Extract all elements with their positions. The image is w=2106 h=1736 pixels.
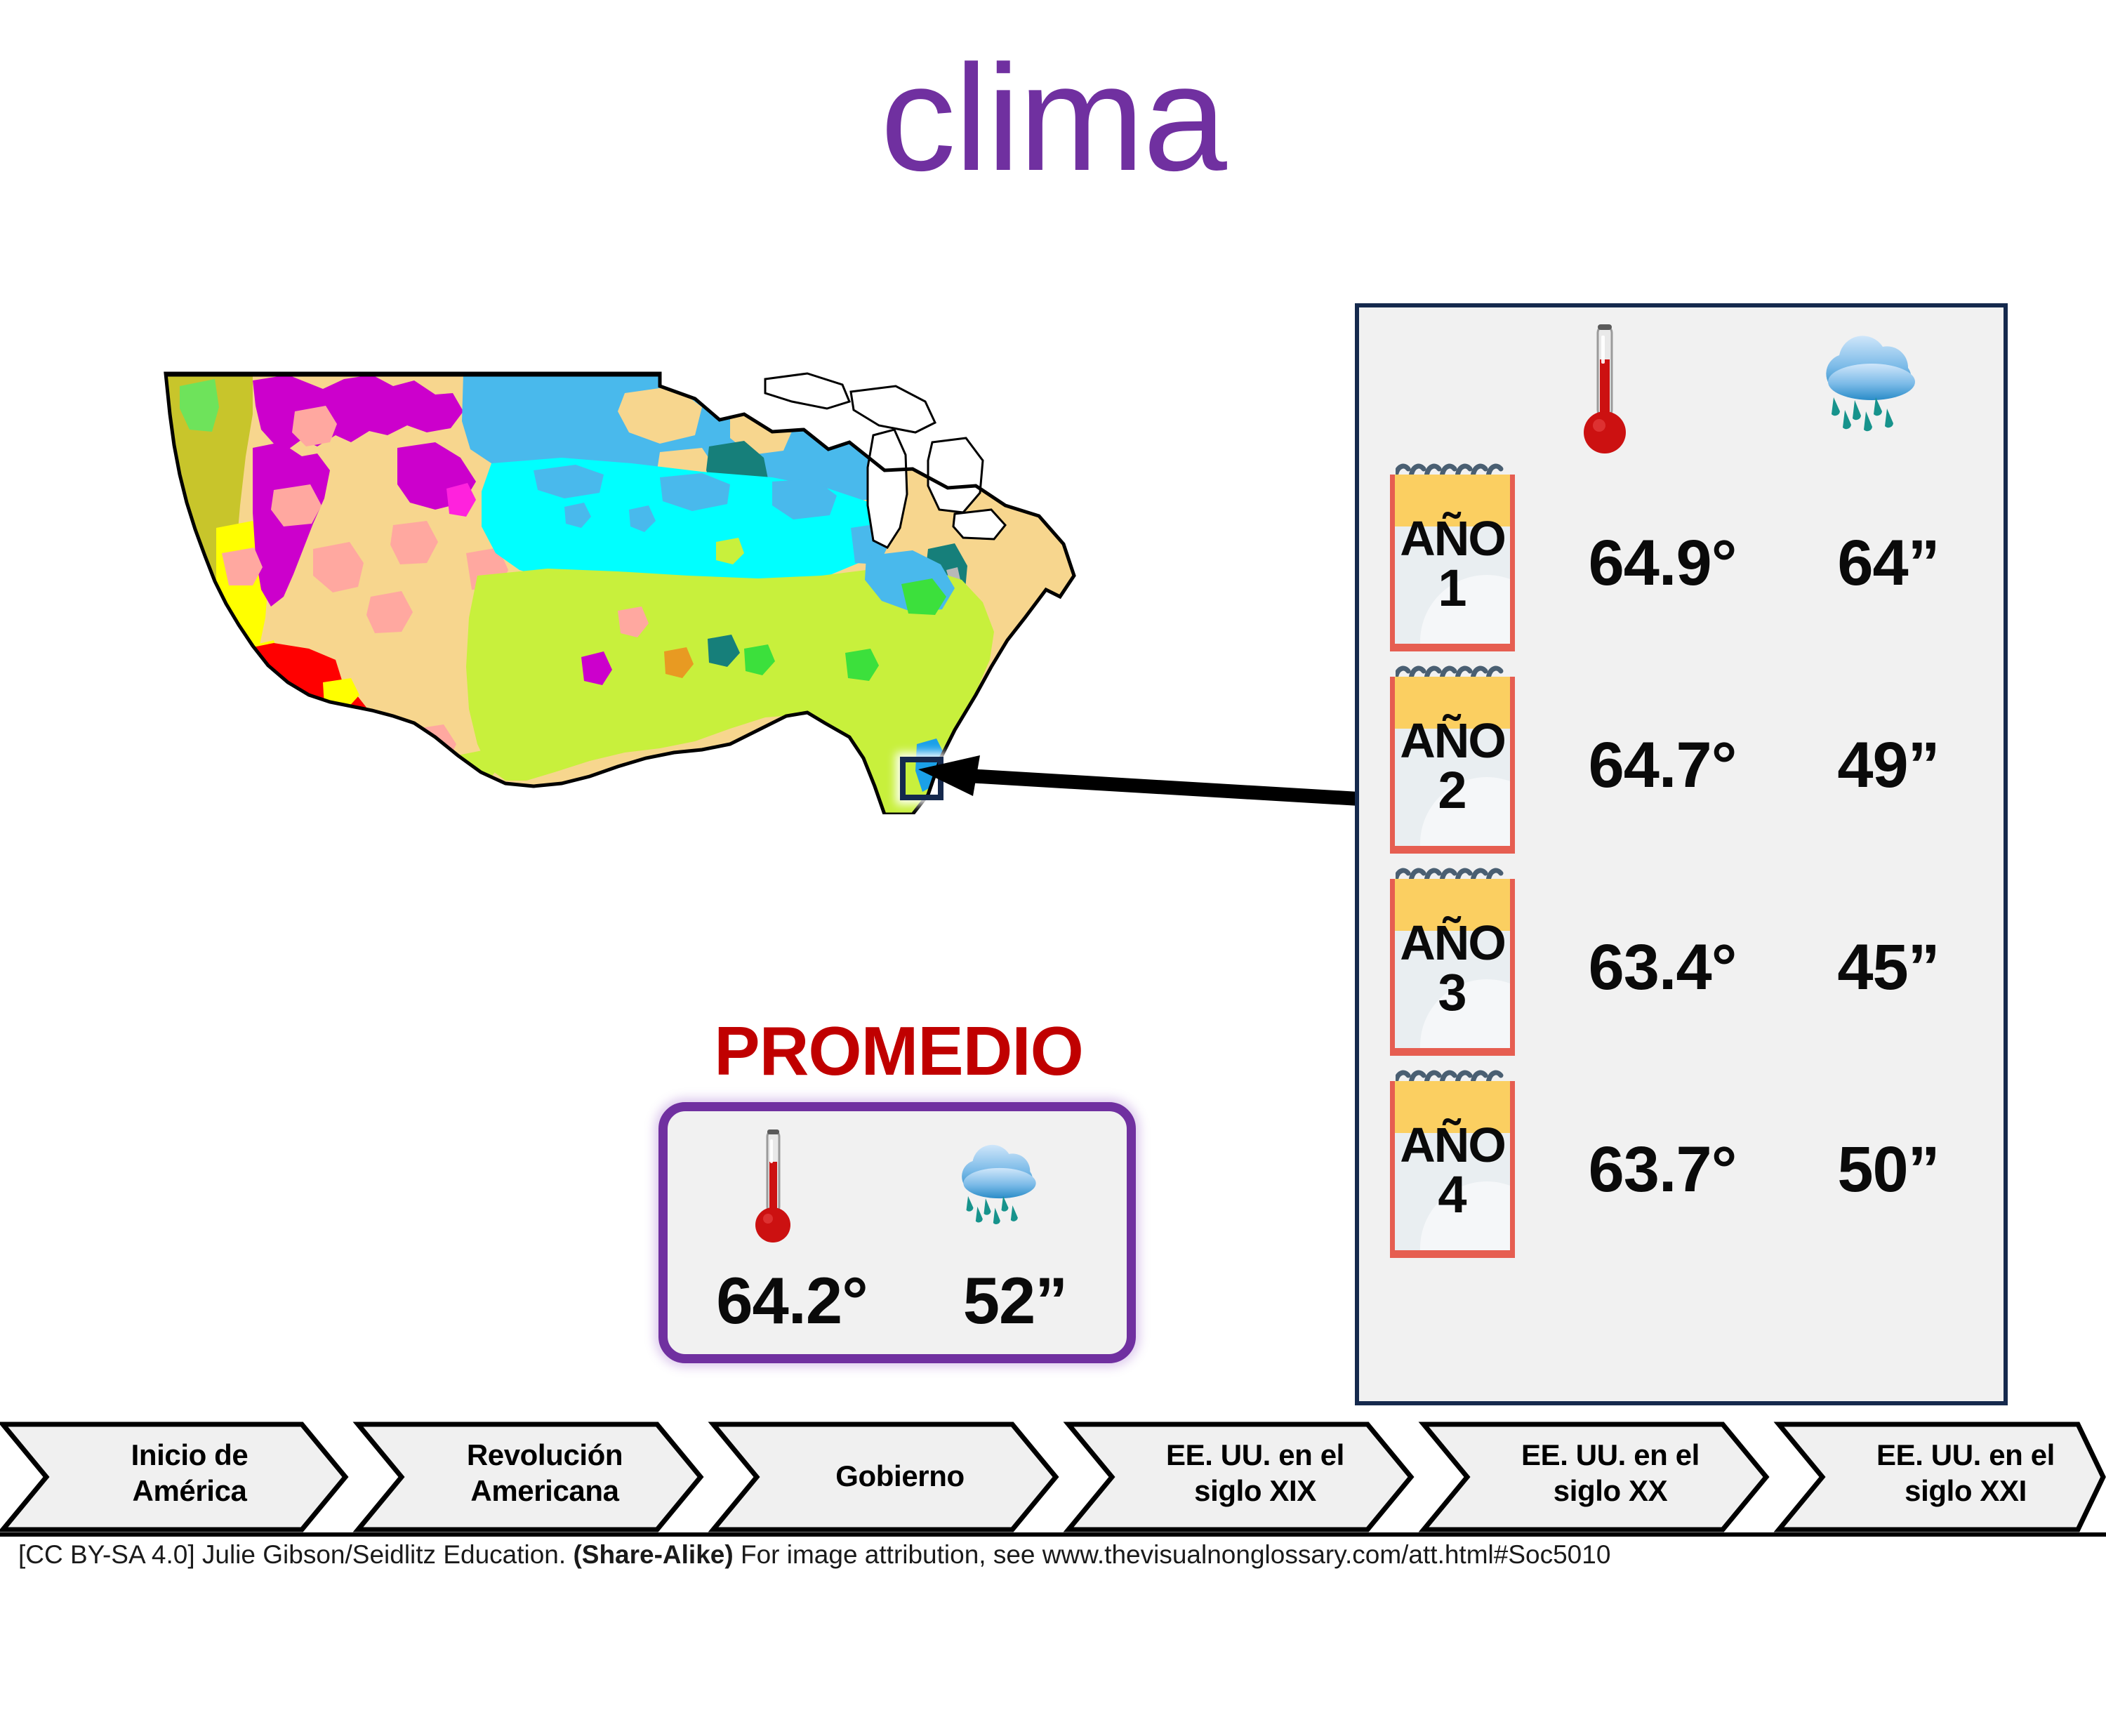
table-row: AÑO 4 63.7° 50”	[1383, 1060, 1988, 1279]
nav-item-inicio-de-america[interactable]: Inicio de América	[49, 1437, 330, 1509]
footer-attribution: [CC BY-SA 4.0] Julie Gibson/Seidlitz Edu…	[18, 1540, 2082, 1570]
table-row: AÑO 1 64.9° 64”	[1383, 453, 1988, 672]
nav-label-line1: Inicio de	[49, 1437, 330, 1473]
panel-header-icons	[1359, 307, 2004, 462]
climate-data-panel: AÑO 1 64.9° 64” AÑO	[1355, 303, 2008, 1405]
precipitation-value: 64”	[1783, 526, 1994, 600]
footer-attribution-text: For image attribution, see www.thevisual…	[734, 1540, 1611, 1569]
table-row: AÑO 3 63.4° 45”	[1383, 858, 1988, 1077]
precipitation-value: 45”	[1783, 931, 1994, 1005]
nav-label-line2: siglo XXI	[1825, 1473, 2106, 1509]
nav-item-revolucion-americana[interactable]: Revolución Americana	[404, 1437, 685, 1509]
calendar-word: AÑO	[1395, 1122, 1510, 1169]
nav-item-eeuu-siglo-xix[interactable]: EE. UU. en el siglo XIX	[1115, 1437, 1396, 1509]
thermometer-icon	[752, 1127, 795, 1247]
nav-label-line1: Gobierno	[760, 1458, 1040, 1494]
nav-label-line2: siglo XIX	[1115, 1473, 1396, 1509]
calendar-number: 2	[1395, 766, 1510, 815]
calendar-word: AÑO	[1395, 920, 1510, 967]
calendar-word: AÑO	[1395, 717, 1510, 764]
calendar-icon: AÑO 3	[1390, 879, 1515, 1056]
timeline-nav: Inicio de América Revolución Americana G…	[0, 1422, 2106, 1532]
precipitation-value: 50”	[1783, 1133, 1994, 1207]
callout-arrow-icon	[913, 744, 1362, 828]
nav-label-line1: EE. UU. en el	[1825, 1437, 2106, 1473]
temperature-value: 64.9°	[1557, 526, 1768, 600]
calendar-number: 1	[1395, 564, 1510, 613]
page-title: clima	[0, 42, 2106, 193]
average-temperature-value: 64.2°	[683, 1263, 901, 1339]
calendar-number: 3	[1395, 968, 1510, 1017]
footer-license: [CC BY-SA 4.0] Julie Gibson/Seidlitz Edu…	[18, 1540, 573, 1569]
average-box: 64.2° 52”	[658, 1102, 1136, 1363]
nav-label-line1: EE. UU. en el	[1115, 1437, 1396, 1473]
nav-item-eeuu-siglo-xxi[interactable]: EE. UU. en el siglo XXI	[1825, 1437, 2106, 1509]
nav-label-line2: América	[49, 1473, 330, 1509]
nav-item-eeuu-siglo-xx[interactable]: EE. UU. en el siglo XX	[1470, 1437, 1751, 1509]
average-section: PROMEDIO	[618, 1016, 1179, 1410]
footer-divider	[0, 1532, 2106, 1537]
calendar-word: AÑO	[1395, 515, 1510, 562]
nav-label-line1: Revolución	[404, 1437, 685, 1473]
calendar-icon: AÑO 1	[1390, 475, 1515, 651]
calendar-icon: AÑO 2	[1390, 677, 1515, 854]
footer-share-alike: (Share-Alike)	[573, 1540, 733, 1569]
rain-cloud-icon	[1808, 327, 1935, 432]
precipitation-value: 49”	[1783, 729, 1994, 802]
table-row: AÑO 2 64.7° 49”	[1383, 656, 1988, 875]
rain-cloud-icon	[947, 1137, 1052, 1226]
average-title: PROMEDIO	[618, 1016, 1179, 1085]
nav-item-gobierno[interactable]: Gobierno	[760, 1458, 1040, 1494]
temperature-value: 64.7°	[1557, 729, 1768, 802]
nav-label-line1: EE. UU. en el	[1470, 1437, 1751, 1473]
nav-label-line2: siglo XX	[1470, 1473, 1751, 1509]
temperature-value: 63.4°	[1557, 931, 1768, 1005]
calendar-number: 4	[1395, 1170, 1510, 1219]
nav-label-line2: Americana	[404, 1473, 685, 1509]
calendar-icon: AÑO 4	[1390, 1081, 1515, 1258]
thermometer-icon	[1578, 322, 1631, 459]
average-precipitation-value: 52”	[906, 1263, 1124, 1339]
temperature-value: 63.7°	[1557, 1133, 1768, 1207]
